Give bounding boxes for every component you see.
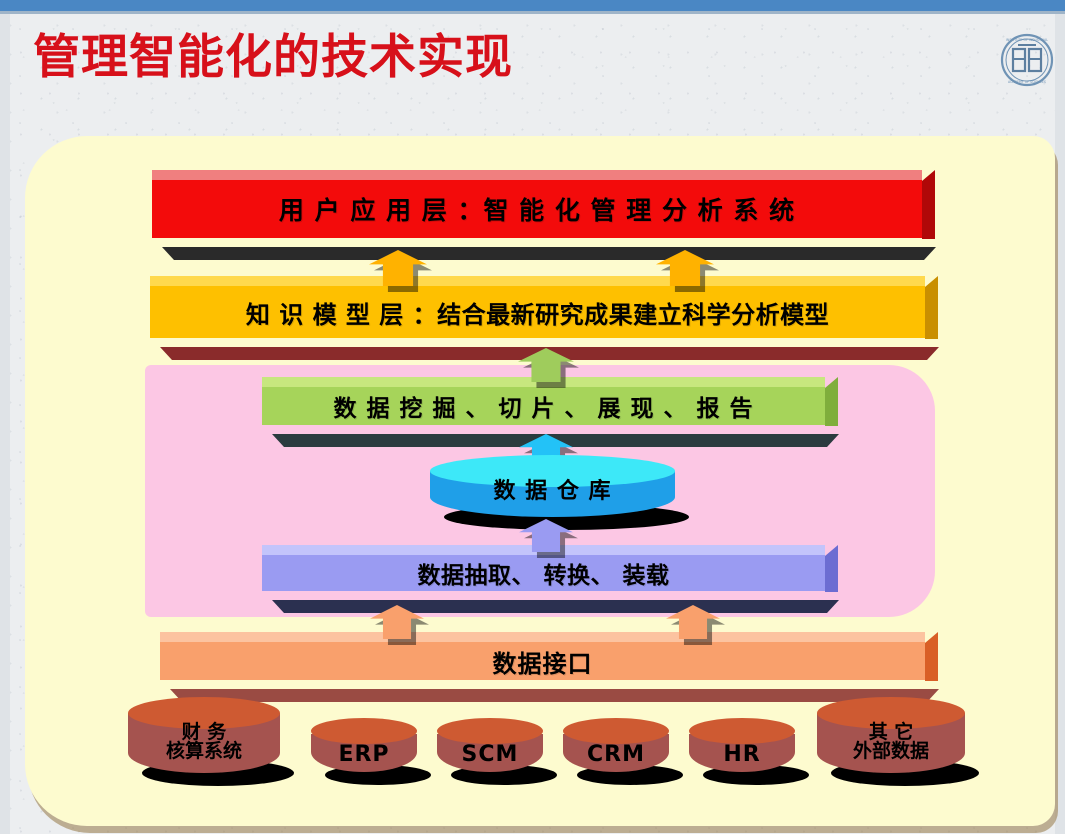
- slab-front-face: 数据接口: [160, 642, 925, 680]
- top-accent-bar: [0, 0, 1065, 11]
- top-accent-shade: [0, 11, 1065, 14]
- layer-knowledge-model[interactable]: 知 识 模 型 层 ：结合最新研究成果建立科学分析模型: [150, 276, 925, 348]
- layer-data-mining-label: 数 据 挖 掘 、 切 片 、 展 现 、 报 告: [333, 389, 753, 423]
- source-crm-label: CRM: [563, 744, 669, 766]
- arrow-etl: [519, 519, 573, 552]
- slab-front-face: 知 识 模 型 层 ：结合最新研究成果建立科学分析模型: [150, 286, 925, 338]
- svg-text:INSTITUTE OF INDUSTRIAL: INSTITUTE OF INDUSTRIAL: [1006, 38, 1048, 42]
- source-erp-label: ERP: [311, 744, 417, 766]
- source-scm[interactable]: SCM: [437, 718, 543, 772]
- slab-front-face: 数据抽取、 转换、 装载: [262, 555, 825, 591]
- slide-canvas: 管理智能化的技术实现 INSTITUTE OF INDUSTRIAL ACADE…: [0, 0, 1065, 834]
- source-external-label: 其 它 外部数据: [817, 723, 965, 762]
- slab-front-face: 数 据 挖 掘 、 切 片 、 展 现 、 报 告: [262, 387, 825, 425]
- data-warehouse-cylinder[interactable]: 数 据 仓 库: [430, 455, 675, 517]
- slab-drop-shadow: [162, 247, 936, 260]
- layer-etl-label: 数据抽取、 转换、 装载: [417, 556, 669, 590]
- slab-side-face: [925, 276, 938, 339]
- source-hr[interactable]: HR: [689, 718, 795, 772]
- layer-user-application-label: 用 户 应 用 层 ：智 能 化 管 理 分 析 系 统: [279, 191, 795, 227]
- layer-knowledge-model-label: 知 识 模 型 层 ：结合最新研究成果建立科学分析模型: [246, 295, 829, 330]
- source-crm[interactable]: CRM: [563, 718, 669, 772]
- source-external[interactable]: 其 它 外部数据: [817, 697, 965, 773]
- slab-side-face: [922, 170, 935, 239]
- cylinder-top: [311, 718, 417, 744]
- svg-text:ACADEMY OF SCIENCES: ACADEMY OF SCIENCES: [1008, 80, 1046, 84]
- cylinder-top: [563, 718, 669, 744]
- page-title: 管理智能化的技术实现: [33, 32, 513, 84]
- institute-seal-logo: INSTITUTE OF INDUSTRIAL ACADEMY OF SCIEN…: [1000, 31, 1054, 89]
- arrow-model: [518, 348, 574, 382]
- left-edge-strip: [0, 14, 10, 834]
- arrow-app-left: [369, 250, 427, 286]
- source-finance[interactable]: 财 务 核算系统: [128, 697, 280, 773]
- data-warehouse-label: 数 据 仓 库: [430, 481, 675, 503]
- slab-drop-shadow: [272, 600, 839, 613]
- source-finance-label: 财 务 核算系统: [128, 723, 280, 762]
- layer-data-interface-label: 数据接口: [493, 644, 593, 679]
- slab-front-face: 用 户 应 用 层 ：智 能 化 管 理 分 析 系 统: [152, 180, 922, 238]
- source-erp[interactable]: ERP: [311, 718, 417, 772]
- arrow-app-right: [656, 250, 714, 286]
- cylinder-top: [689, 718, 795, 744]
- cylinder-top: [437, 718, 543, 744]
- layer-user-application[interactable]: 用 户 应 用 层 ：智 能 化 管 理 分 析 系 统: [152, 170, 922, 248]
- arrow-iface-right: [666, 605, 720, 639]
- source-scm-label: SCM: [437, 744, 543, 766]
- slab-drop-shadow: [170, 689, 939, 702]
- layer-data-interface[interactable]: 数据接口: [160, 632, 925, 690]
- right-edge-strip: [1055, 14, 1065, 834]
- source-hr-label: HR: [689, 744, 795, 766]
- arrow-iface-left: [370, 605, 424, 639]
